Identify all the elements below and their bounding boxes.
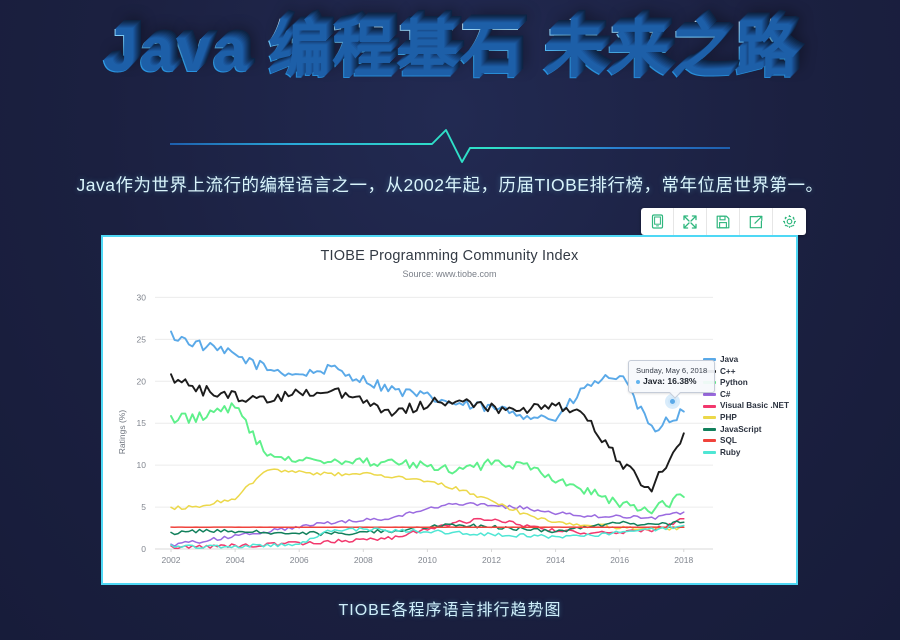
legend-label: C# [720, 389, 730, 401]
svg-text:30: 30 [137, 292, 147, 302]
svg-text:2012: 2012 [482, 555, 501, 565]
legend-swatch-icon [703, 439, 716, 442]
series-lines [171, 332, 684, 549]
legend-label: Visual Basic .NET [720, 400, 789, 412]
tooltip-date: Sunday, May 6, 2018 [636, 365, 707, 376]
legend-label: Java [720, 354, 738, 366]
legend-item-sql[interactable]: SQL [703, 435, 789, 447]
svg-text:2014: 2014 [546, 555, 565, 565]
title-block: Java 编程基石 未来之路 [0, 16, 900, 87]
save-icon [716, 215, 730, 229]
expand-icon [683, 215, 697, 229]
highlight-point [668, 397, 677, 406]
legend-item-c-[interactable]: C++ [703, 366, 789, 378]
legend-swatch-icon [703, 416, 716, 419]
page-title: Java 编程基石 未来之路 [102, 16, 798, 87]
legend-label: C++ [720, 366, 735, 378]
legend-label: Ruby [720, 447, 740, 459]
tooltip-dot-icon [636, 380, 640, 384]
svg-text:2010: 2010 [418, 555, 437, 565]
x-tick-labels: 200220042006200820102012201420162018 [162, 555, 694, 565]
share-icon [749, 215, 763, 229]
legend-swatch-icon [703, 428, 716, 431]
legend-item-php[interactable]: PHP [703, 412, 789, 424]
legend-swatch-icon [703, 393, 716, 396]
svg-text:2018: 2018 [674, 555, 693, 565]
save-button[interactable] [707, 208, 740, 235]
svg-text:2004: 2004 [226, 555, 245, 565]
gridlines [155, 297, 713, 552]
divider-heartbeat-icon [170, 128, 730, 166]
legend-item-java[interactable]: Java [703, 354, 789, 366]
chart-card: TIOBE Programming Community Index Source… [101, 235, 798, 585]
legend-item-visual-basic-net[interactable]: Visual Basic .NET [703, 400, 789, 412]
legend-swatch-icon [703, 405, 716, 408]
legend-label: JavaScript [720, 424, 761, 436]
chart-inner: TIOBE Programming Community Index Source… [103, 237, 796, 583]
legend-swatch-icon [703, 451, 716, 454]
y-tick-labels: 051015202530 [137, 292, 147, 554]
svg-text:20: 20 [137, 376, 147, 386]
legend-item-c-[interactable]: C# [703, 389, 789, 401]
svg-text:2008: 2008 [354, 555, 373, 565]
legend-item-ruby[interactable]: Ruby [703, 447, 789, 459]
subtitle: Java作为世界上流行的编程语言之一，从2002年起，历届TIOBE排行榜，常年… [0, 172, 900, 197]
legend-item-javascript[interactable]: JavaScript [703, 424, 789, 436]
gear-icon [782, 214, 797, 229]
series-python [171, 403, 684, 513]
chart-tooltip: Sunday, May 6, 2018 Java: 16.38% [628, 360, 715, 393]
chart-toolbar[interactable] [641, 208, 806, 235]
tooltip-value: Java: 16.38% [643, 376, 697, 386]
svg-text:10: 10 [137, 460, 147, 470]
svg-text:2002: 2002 [162, 555, 181, 565]
svg-text:5: 5 [141, 502, 146, 512]
share-button[interactable] [740, 208, 773, 235]
divider [0, 128, 900, 166]
svg-text:15: 15 [137, 418, 147, 428]
mobile-icon [651, 214, 664, 229]
tooltip-value-row: Java: 16.38% [636, 376, 707, 387]
svg-text:25: 25 [137, 334, 147, 344]
legend-item-python[interactable]: Python [703, 377, 789, 389]
y-axis-label: Ratings (%) [117, 410, 127, 455]
mobile-preview-button[interactable] [641, 208, 674, 235]
chart-plot: 051015202530 200220042006200820102012201… [103, 237, 798, 585]
chart-caption: TIOBE各程序语言排行趋势图 [0, 596, 900, 620]
svg-text:0: 0 [141, 544, 146, 554]
svg-text:2006: 2006 [290, 555, 309, 565]
settings-button[interactable] [773, 208, 806, 235]
slide-root: Java 编程基石 未来之路 Java作为世界上流行的编程语言之一，从2002年… [0, 0, 900, 640]
svg-text:2016: 2016 [610, 555, 629, 565]
legend-label: Python [720, 377, 748, 389]
fullscreen-button[interactable] [674, 208, 707, 235]
chart-legend[interactable]: JavaC++PythonC#Visual Basic .NETPHPJavaS… [703, 354, 789, 458]
legend-label: SQL [720, 435, 737, 447]
legend-label: PHP [720, 412, 737, 424]
